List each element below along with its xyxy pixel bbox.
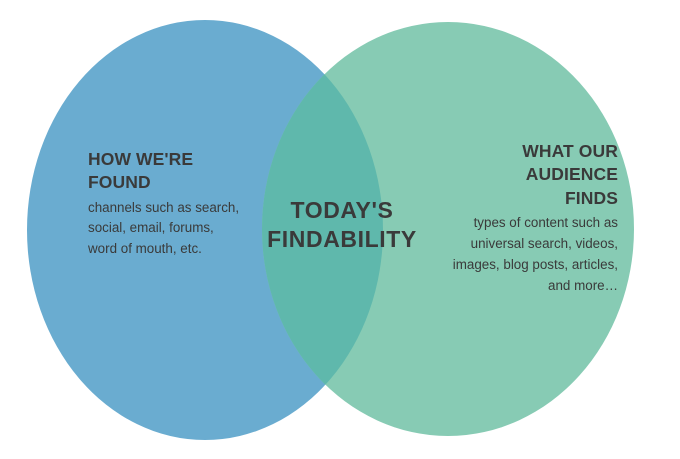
right-set-body: types of content such as universal searc… bbox=[448, 213, 618, 297]
right-set-label: WHAT OUR AUDIENCE FINDS types of content… bbox=[448, 140, 618, 296]
venn-labels: HOW WE'RE FOUND channels such as search,… bbox=[0, 0, 680, 459]
left-set-heading-line-2: FOUND bbox=[88, 172, 151, 192]
right-set-heading-line-3: FINDS bbox=[565, 188, 618, 208]
left-set-heading: HOW WE'RE FOUND bbox=[88, 148, 240, 195]
intersection-label: TODAY'S FINDABILITY bbox=[246, 196, 438, 255]
intersection-title: TODAY'S FINDABILITY bbox=[246, 196, 438, 255]
right-set-heading-line-2: AUDIENCE bbox=[526, 164, 618, 184]
left-set-label: HOW WE'RE FOUND channels such as search,… bbox=[88, 148, 240, 260]
intersection-title-line-1: TODAY'S bbox=[246, 196, 438, 225]
left-set-heading-line-1: HOW WE'RE bbox=[88, 149, 193, 169]
right-set-heading: WHAT OUR AUDIENCE FINDS bbox=[448, 140, 618, 210]
right-set-heading-line-1: WHAT OUR bbox=[522, 141, 618, 161]
intersection-title-line-2: FINDABILITY bbox=[246, 225, 438, 254]
left-set-body: channels such as search, social, email, … bbox=[88, 198, 240, 261]
venn-diagram: HOW WE'RE FOUND channels such as search,… bbox=[0, 0, 680, 459]
